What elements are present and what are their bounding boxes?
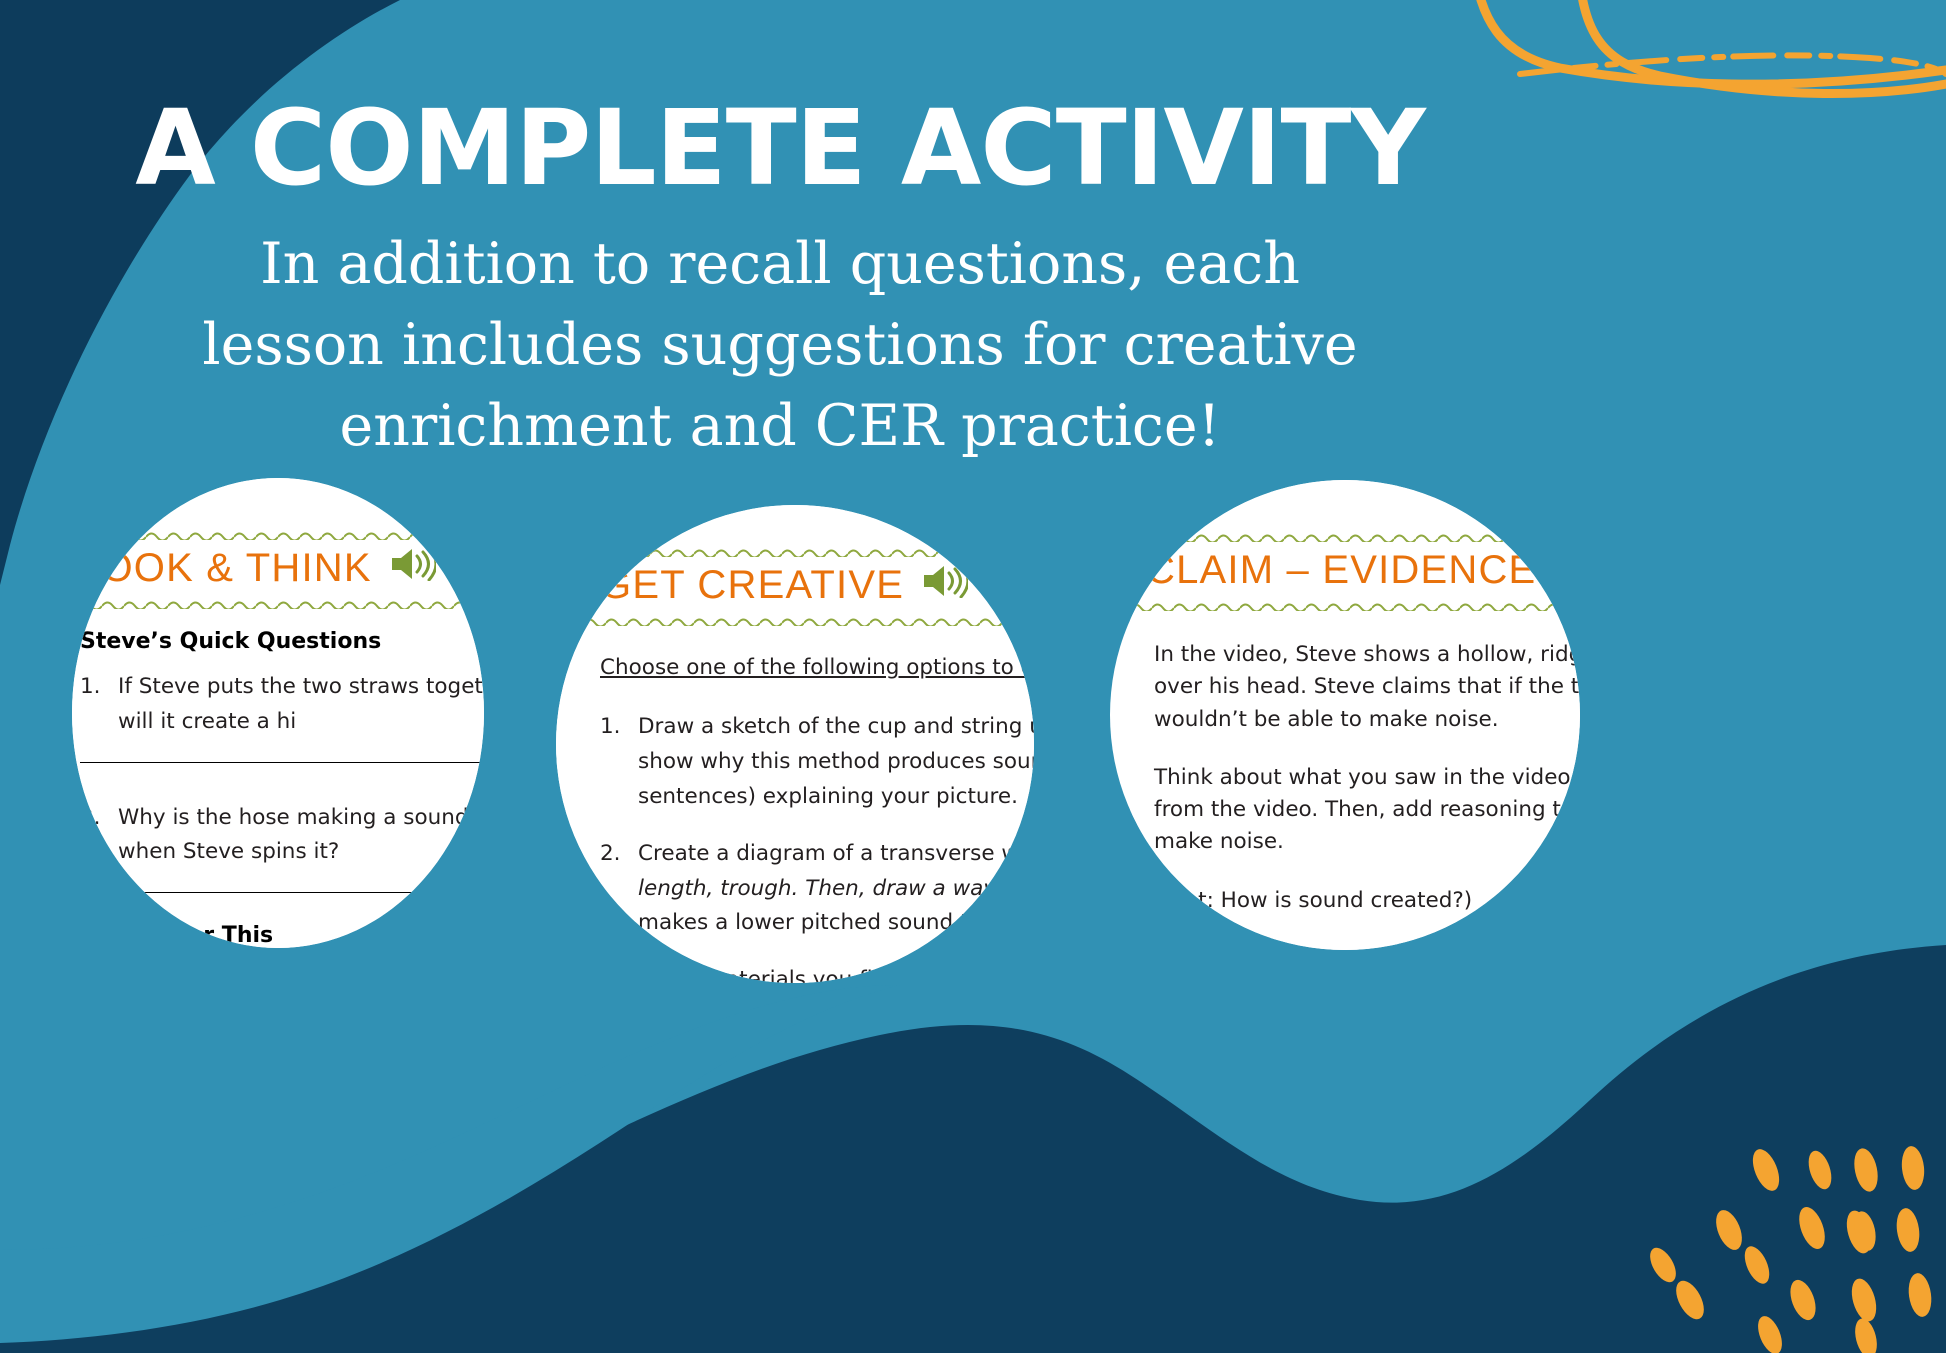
list-line: Draw a sketch of the cup and string used… — [638, 714, 1034, 739]
list-number: 1. — [80, 670, 106, 740]
list-item: 1. Draw a sketch of the cup and string u… — [600, 710, 1034, 814]
card-heading-look-and-think: LOOK & THINK — [72, 540, 484, 599]
paragraph-line: Think about what you saw in the video. H… — [1154, 765, 1580, 790]
slide-canvas: A COMPLETE ACTIVITY In addition to recal… — [0, 0, 1946, 1353]
paragraph-line: wouldn’t be able to make noise. — [1154, 707, 1499, 732]
list-line: makes a lower pitched sound than the ori… — [638, 910, 1034, 935]
list-number: 2. — [600, 837, 626, 941]
instruction-line: Choose one of the following options to e… — [600, 652, 1034, 684]
card-get-creative[interactable]: GET CREATIVE Choose one of the following… — [556, 505, 1034, 983]
list-number: 1. — [600, 710, 626, 814]
list-text: Draw a sketch of the cup and string used… — [638, 710, 1034, 814]
wavy-divider-bottom — [72, 599, 484, 609]
list-item: 1. If Steve puts the two straws together… — [80, 670, 484, 740]
paragraph-hint: (Hint: How is sound created?) — [1154, 885, 1580, 917]
list-text: If Steve puts the two straws together, w… — [118, 670, 484, 740]
card-heading-text: CLAIM – EVIDENCE – REA — [1146, 548, 1580, 593]
speaker-icon — [390, 546, 436, 591]
card-heading-text: GET CREATIVE — [600, 563, 904, 608]
wavy-divider-top — [556, 547, 1034, 557]
section-label-quick-questions: Steve’s Quick Questions — [80, 629, 484, 654]
card-heading-claim-evidence-reasoning: CLAIM – EVIDENCE – REA — [1130, 542, 1580, 601]
wavy-divider-bottom — [556, 616, 1034, 626]
list-text: Using materials you find at home or in y… — [638, 963, 1034, 983]
paragraph-video-description: In the video, Steve shows a hollow, ridg… — [1154, 639, 1580, 736]
list-number: 2. — [80, 801, 106, 871]
wavy-divider-bottom — [1130, 601, 1580, 611]
wavy-divider-top — [72, 530, 484, 540]
paragraph-line: make noise. — [1154, 829, 1284, 854]
card-heading-get-creative: GET CREATIVE — [556, 557, 1034, 616]
answer-line — [80, 762, 484, 763]
card-look-and-think[interactable]: LOOK & THINK Steve’s Quick Questions 1. … — [72, 478, 484, 948]
list-item: 2. Create a diagram of a transverse wave… — [600, 837, 1034, 941]
paragraph-line: In the video, Steve shows a hollow, ridg… — [1154, 642, 1580, 667]
list-line: show why this method produces sound. Inc… — [638, 749, 1034, 774]
paragraph-line: over his head. Steve claims that if the … — [1154, 674, 1580, 699]
answer-line — [80, 892, 484, 893]
list-item: 3. Using materials you find at home or i… — [600, 963, 1034, 983]
section-label-remember-this: Remember This — [80, 923, 484, 948]
paragraph-line: from the video. Then, add reasoning to e… — [1154, 797, 1580, 822]
list-item: 2. Why is the hose making a sound when S… — [80, 801, 484, 871]
list-text: Why is the hose making a sound when Stev… — [118, 801, 484, 871]
list-number: 3. — [600, 963, 626, 983]
speaker-icon — [922, 563, 968, 608]
list-text: Create a diagram of a transverse wave an… — [638, 837, 1034, 941]
claim-label: CLAIM — [1154, 943, 1580, 950]
card-claim-evidence-reasoning[interactable]: CLAIM – EVIDENCE – REA In the video, Ste… — [1110, 480, 1580, 950]
wavy-divider-top — [1130, 532, 1580, 542]
list-line: Using materials you find at home or in y… — [638, 967, 1034, 983]
list-line: sentences) explaining your picture. — [638, 784, 1018, 809]
list-line: Create a diagram of a transverse wave an… — [638, 841, 1034, 866]
paragraph-task-description: Think about what you saw in the video. H… — [1154, 762, 1580, 859]
list-line: length, trough. Then, draw a wave that m… — [638, 876, 1034, 901]
card-heading-text: LOOK & THINK — [78, 546, 372, 591]
